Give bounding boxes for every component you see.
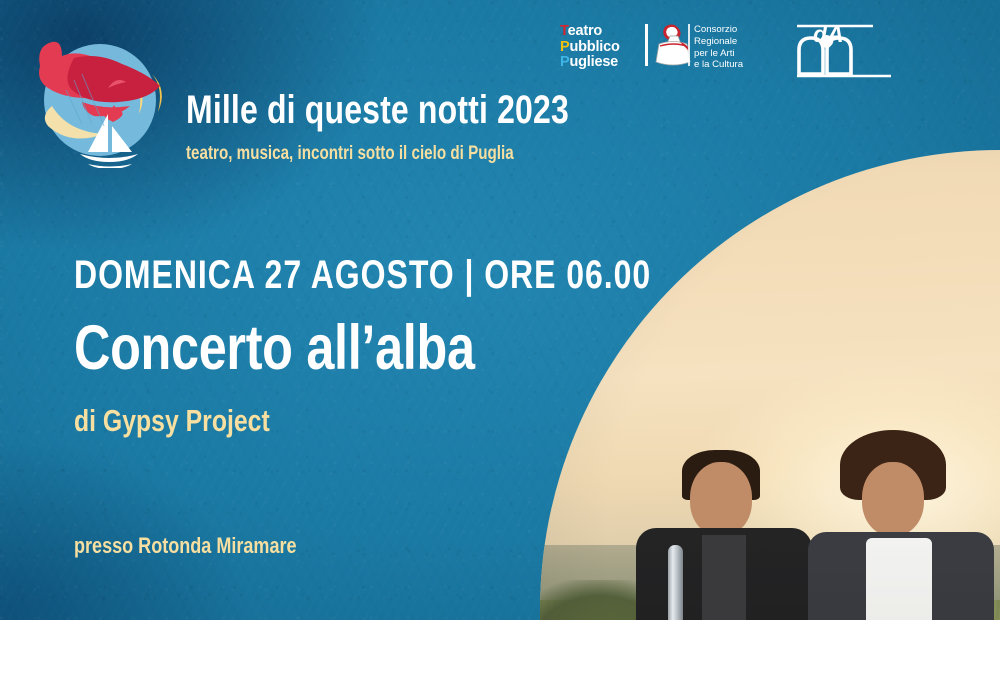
event-poster: Mille di queste notti 2023 teatro, music…	[0, 0, 1000, 700]
photo-vignette	[540, 150, 1000, 700]
tpp-line-1: TTeatroeatro	[560, 24, 638, 40]
event-title: Concerto all’alba	[74, 312, 475, 384]
header-partner-logos: TTeatroeatro Pubblico Pugliese Consorzio…	[0, 0, 1000, 100]
event-date-time: DOMENICA 27 AGOSTO | ORE 06.00	[74, 253, 651, 298]
consorzio-line-2: Regionale	[694, 36, 772, 48]
logo-consorzio-regionale[interactable]: Consorzio Regionale per le Arti e la Cul…	[694, 24, 772, 71]
logo-bottega-degli-apocrifi[interactable]: dA Bottega degli Apocrifi	[795, 18, 945, 78]
tpp-line-3: Pugliese	[560, 55, 638, 71]
consorzio-line-3: per le Arti	[694, 48, 772, 60]
sponsor-bar: col sostegno di Città di Manfredonia	[0, 620, 1000, 700]
band-photo	[540, 150, 1000, 700]
consorzio-line-4: e la Cultura	[694, 59, 772, 71]
event-venue: presso Rotonda Miramare	[74, 533, 297, 559]
consorzio-line-1: Consorzio	[694, 24, 772, 36]
logo-teatro-pubblico-pugliese[interactable]: TTeatroeatro Pubblico Pugliese	[560, 24, 638, 71]
festival-subtitle: teatro, musica, incontri sotto il cielo …	[186, 143, 514, 165]
band-photo-circle	[540, 150, 1000, 700]
consorzio-puppet-icon	[654, 22, 692, 68]
event-artist: di Gypsy Project	[74, 403, 270, 439]
logo-divider	[645, 24, 648, 66]
tpp-line-2: Pubblico	[560, 40, 638, 56]
